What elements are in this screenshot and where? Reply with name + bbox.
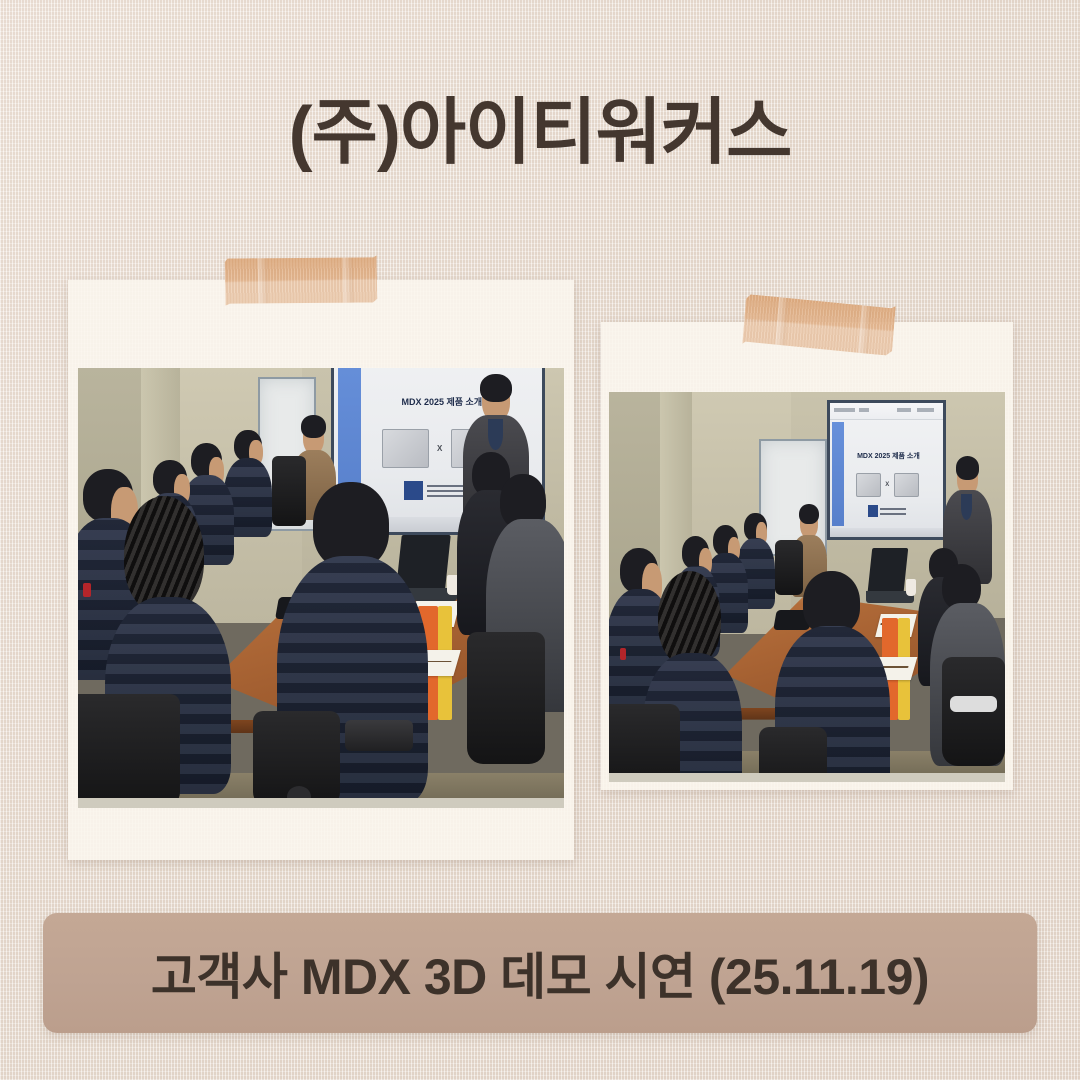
chair-left-foreground (78, 694, 180, 808)
slide-badge-right (894, 473, 919, 497)
slide-badge-row: X (850, 473, 924, 497)
slide-taskbar (830, 528, 943, 537)
slide-logo-text (880, 507, 906, 515)
chair-back-left (775, 540, 803, 595)
red-logo (83, 583, 90, 597)
chair-arm-center (345, 720, 413, 751)
presenter-shirt (488, 419, 503, 450)
slide-logo (868, 505, 906, 517)
slide-logo-mark (868, 505, 878, 517)
caption-text: 고객사 MDX 3D 데모 시연 (25.11.19) (151, 937, 929, 1009)
slide-badge-left (856, 473, 881, 497)
hair (301, 415, 325, 438)
chair-back-left (272, 456, 306, 526)
chair-right (467, 632, 545, 764)
presenter-hair (480, 374, 511, 402)
page-title: (주)아이티워커스 (0, 96, 1080, 172)
photo-meeting-room-wide: MDX 2025 제품 소개 X (609, 392, 1005, 782)
washi-tape-photo-1 (225, 255, 378, 305)
photo-meeting-room-close: MDX 2025 제품 소개 X (78, 368, 564, 808)
slide-side-panel (832, 422, 844, 527)
paper-cup (906, 579, 916, 595)
slide-badge-separator: X (885, 482, 889, 488)
hair (799, 504, 819, 525)
floor-strip (78, 798, 564, 808)
projector-screen: MDX 2025 제품 소개 X (827, 400, 946, 540)
chair-left-foreground (609, 704, 680, 782)
chair-arm-right (950, 696, 998, 712)
chair-right (942, 657, 1005, 766)
floor-strip (609, 773, 1005, 782)
photo-card-meeting-room-wide[interactable]: MDX 2025 제품 소개 X (601, 322, 1013, 790)
slide-badge-separator: X (437, 444, 442, 453)
presenter-hair (956, 456, 980, 479)
poster-canvas: (주)아이티워커스 MDX 2025 제품 소개 (0, 0, 1080, 1080)
red-logo (620, 648, 626, 660)
photo-card-meeting-room-close[interactable]: MDX 2025 제품 소개 X (68, 280, 574, 860)
slide-title: MDX 2025 제품 소개 (848, 451, 929, 461)
slide-badge-left (382, 429, 429, 468)
caption-bar: 고객사 MDX 3D 데모 시연 (25.11.19) (43, 913, 1037, 1033)
slide-app-bar (830, 403, 943, 420)
